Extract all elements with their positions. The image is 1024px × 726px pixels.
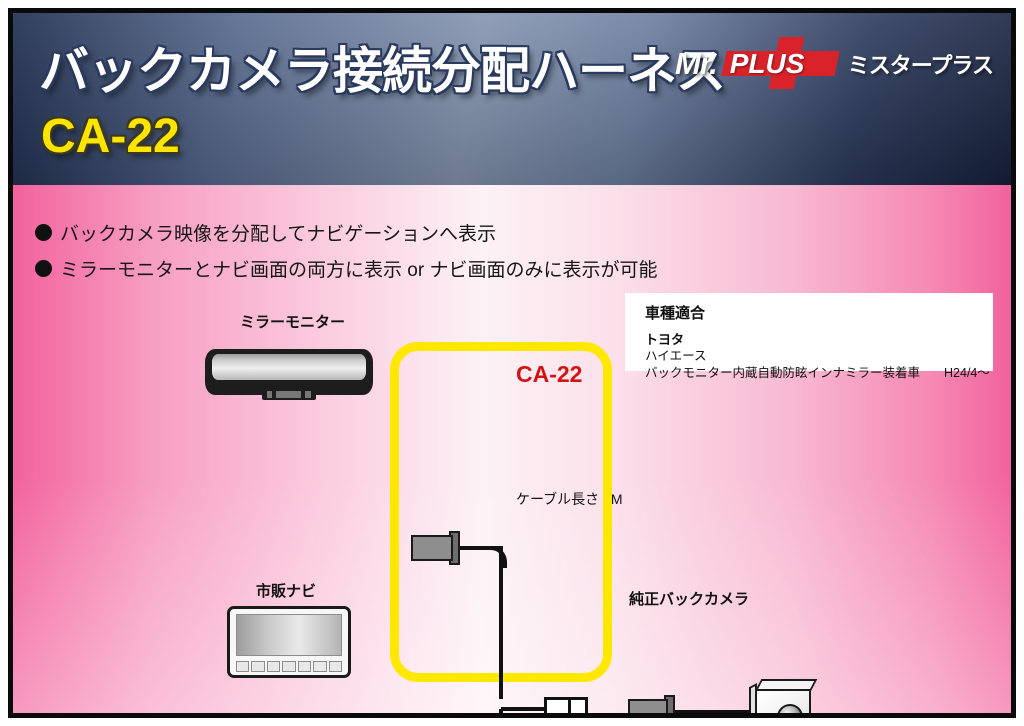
compatibility-spec: バックモニター内蔵自動防眩インナミラー装着車 bbox=[645, 366, 920, 380]
cable-camera-horizontal bbox=[672, 710, 758, 714]
nav-key bbox=[236, 661, 249, 672]
page-title: バックカメラ接続分配ハーネス bbox=[39, 31, 725, 103]
list-item: ミラーモニターとナビ画面の両方に表示 or ナビ画面のみに表示が可能 bbox=[35, 255, 795, 282]
compatibility-model: ハイエース bbox=[645, 348, 993, 364]
cable-nav-vertical bbox=[499, 709, 503, 718]
junction-connector bbox=[544, 697, 588, 718]
logo-plus-badge: PLUS bbox=[724, 41, 837, 87]
nav-key bbox=[267, 661, 280, 672]
page-frame: バックカメラ接続分配ハーネス CA-22 Mr. PLUS ミスタープラス バッ… bbox=[8, 8, 1016, 718]
junction-connector-divider bbox=[568, 700, 571, 718]
mirror-monitor-graphic bbox=[205, 349, 373, 395]
rear-camera-label: 純正バックカメラ bbox=[629, 588, 749, 609]
product-spec-sheet: バックカメラ接続分配ハーネス CA-22 Mr. PLUS ミスタープラス バッ… bbox=[0, 0, 1024, 726]
mirror-monitor-label: ミラーモニター bbox=[240, 311, 345, 332]
compatibility-spec-row: バックモニター内蔵自動防眩インナミラー装着車H24/4〜 bbox=[645, 365, 993, 381]
nav-unit-label: 市販ナビ bbox=[256, 580, 316, 601]
bullet-dot-icon bbox=[35, 260, 52, 277]
compatibility-title: 車種適合 bbox=[645, 302, 993, 323]
cable-junction-horizontal bbox=[501, 707, 547, 711]
compatibility-panel: 車種適合 トヨタ ハイエース バックモニター内蔵自動防眩インナミラー装着車H24… bbox=[625, 293, 993, 371]
mirror-glass bbox=[212, 354, 366, 380]
header-banner: バックカメラ接続分配ハーネス CA-22 Mr. PLUS ミスタープラス bbox=[13, 13, 1011, 185]
mirror-buttons bbox=[267, 391, 311, 398]
nav-key bbox=[298, 661, 311, 672]
nav-screen bbox=[236, 614, 342, 656]
feature-text: バックカメラ映像を分配してナビゲーションへ表示 bbox=[60, 219, 496, 246]
feature-list: バックカメラ映像を分配してナビゲーションへ表示 ミラーモニターとナビ画面の両方に… bbox=[35, 219, 795, 291]
rear-camera-graphic bbox=[749, 679, 813, 718]
bullet-dot-icon bbox=[35, 224, 52, 241]
navigation-unit-graphic bbox=[227, 606, 351, 678]
brand-logo: Mr. PLUS ミスタープラス bbox=[675, 41, 993, 87]
cable-mirror-vertical bbox=[499, 548, 503, 699]
nav-key bbox=[282, 661, 295, 672]
list-item: バックカメラ映像を分配してナビゲーションへ表示 bbox=[35, 219, 795, 246]
logo-mr-text: Mr. bbox=[675, 46, 717, 82]
model-number: CA-22 bbox=[41, 109, 180, 164]
compatibility-brand: トヨタ bbox=[645, 332, 993, 348]
logo-kana-text: ミスタープラス bbox=[848, 48, 993, 80]
logo-plus-text: PLUS bbox=[730, 48, 843, 80]
nav-key bbox=[313, 661, 326, 672]
camera-connector bbox=[628, 699, 668, 718]
nav-key bbox=[329, 661, 342, 672]
mirror-connector bbox=[411, 535, 453, 561]
content-area: バックカメラ映像を分配してナビゲーションへ表示 ミラーモニターとナビ画面の両方に… bbox=[13, 185, 1011, 713]
nav-button-row bbox=[236, 661, 342, 672]
nav-key bbox=[251, 661, 264, 672]
feature-text: ミラーモニターとナビ画面の両方に表示 or ナビ画面のみに表示が可能 bbox=[60, 255, 657, 282]
camera-front-face bbox=[755, 689, 811, 718]
compatibility-year: H24/4〜 bbox=[944, 366, 990, 380]
